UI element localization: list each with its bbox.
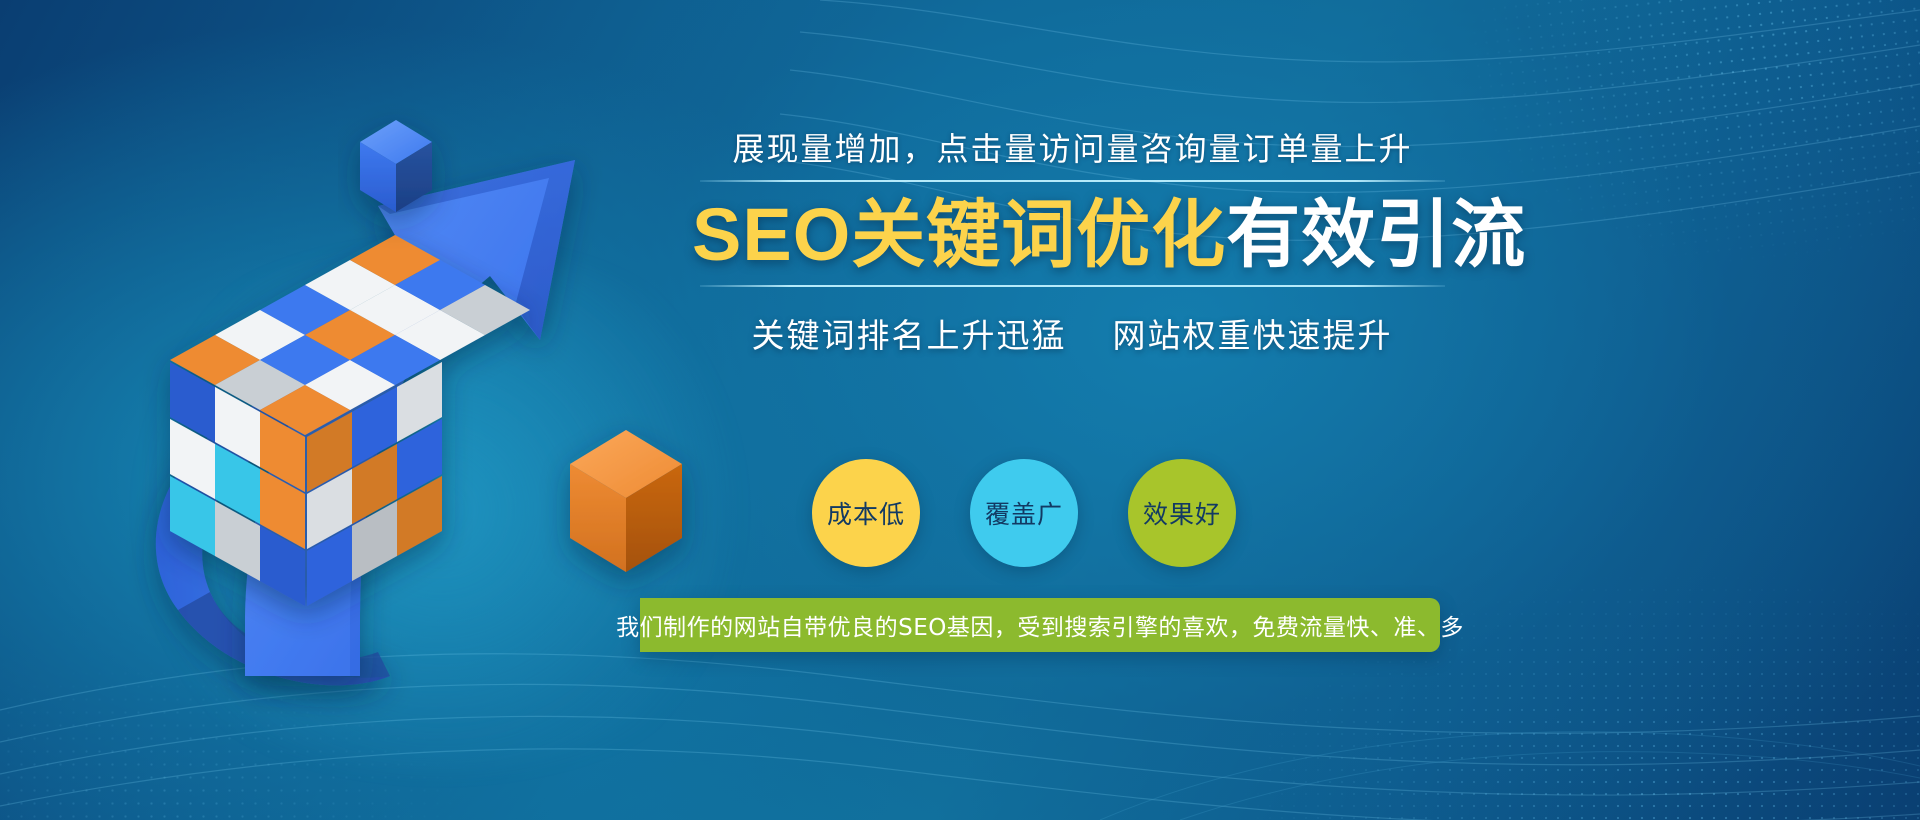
subtitle-right: 网站权重快速提升	[1113, 317, 1393, 354]
badge-wide-coverage[interactable]: 覆盖广	[970, 459, 1078, 567]
subtitle-left: 关键词排名上升迅猛	[752, 317, 1067, 354]
badge-low-cost-label: 成本低	[827, 495, 905, 531]
badge-wide-coverage-label: 覆盖广	[985, 495, 1063, 531]
page-title: SEO关键词优化有效引流	[692, 182, 1452, 285]
tagline-text: 展现量增加，点击量访问量咨询量订单量上升	[700, 120, 1445, 180]
subtitle: 关键词排名上升迅猛网站权重快速提升	[692, 287, 1452, 357]
bottom-ribbon: 我们制作的网站自带优良的SEO基因，受到搜索引擎的喜欢，免费流量快、准、多	[640, 598, 1440, 652]
tagline-divider-bottom	[700, 180, 1445, 182]
tagline-block: 展现量增加，点击量访问量咨询量订单量上升	[700, 120, 1445, 182]
headline-rest: 有效引流	[1226, 193, 1526, 276]
headline-highlight: SEO关键词优化	[692, 193, 1226, 276]
feature-badges: 成本低 覆盖广 效果好	[812, 438, 1452, 588]
badge-good-results[interactable]: 效果好	[1128, 459, 1236, 567]
badge-good-results-label: 效果好	[1143, 495, 1221, 531]
seo-promo-banner: 展现量增加，点击量访问量咨询量订单量上升 SEO关键词优化有效引流 关键词排名上…	[0, 0, 1920, 820]
rubiks-cube	[170, 235, 530, 606]
bottom-ribbon-text: 我们制作的网站自带优良的SEO基因，受到搜索引擎的喜欢，免费流量快、准、多	[616, 608, 1464, 642]
badge-low-cost[interactable]: 成本低	[812, 459, 920, 567]
content-block: 展现量增加，点击量访问量咨询量订单量上升 SEO关键词优化有效引流 关键词排名上…	[640, 120, 1880, 760]
